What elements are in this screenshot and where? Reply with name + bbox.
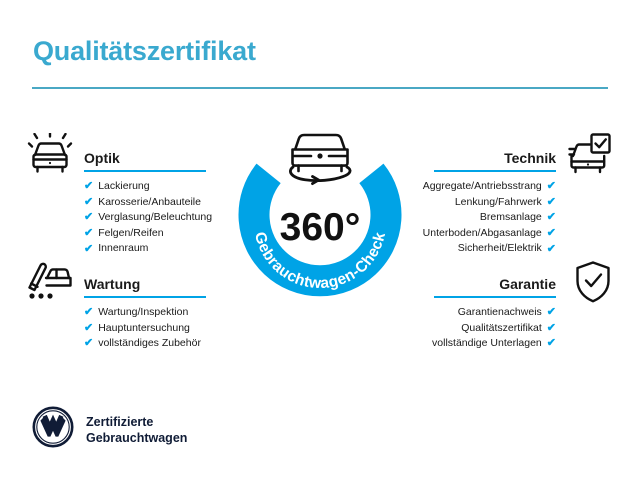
list-item: ✔ Innenraum — [84, 241, 206, 257]
list-item-label: vollständige Unterlagen — [432, 336, 542, 352]
list-item-label: Garantienachweis — [458, 305, 542, 321]
check-icon: ✔ — [84, 212, 93, 223]
section-title-technik: Technik — [504, 150, 556, 166]
section-optik: Optik ✔ Lackierung ✔ Karosserie/Anbautei… — [84, 142, 206, 257]
section-title-optik: Optik — [84, 150, 120, 166]
list-item: ✔ Hauptuntersuchung — [84, 321, 206, 337]
certificate-page: Qualitätszertifikat — [0, 0, 640, 480]
list-item-label: Bremsanlage — [480, 210, 542, 226]
list-item-label: Lenkung/Fahrwerk — [455, 195, 542, 211]
list-item: ✔ Wartung/Inspektion — [84, 305, 206, 321]
check-icon: ✔ — [547, 197, 556, 208]
section-title-garantie: Garantie — [499, 276, 556, 292]
section-garantie: Garantie Garantienachweis ✔ Qualitätszer… — [434, 268, 556, 352]
check-icon: ✔ — [547, 244, 556, 255]
footer-line-2: Gebrauchtwagen — [86, 430, 187, 446]
service-record-icon — [25, 259, 73, 306]
list-item-label: Karosserie/Anbauteile — [98, 195, 201, 211]
list-item-label: Verglasung/Beleuchtung — [98, 210, 212, 226]
section-head-garantie: Garantie — [434, 268, 556, 298]
list-item-label: Hauptuntersuchung — [98, 321, 190, 337]
check-icon: ✔ — [84, 181, 93, 192]
check-icon: ✔ — [84, 244, 93, 255]
car-checkbox-icon — [566, 132, 612, 181]
checklist-technik: Aggregate/Antriebsstrang ✔ Lenkung/Fahrw… — [434, 179, 556, 257]
list-item: ✔ Lackierung — [84, 179, 206, 195]
section-wartung: Wartung ✔ Wartung/Inspektion ✔ Hauptunte… — [84, 268, 206, 352]
check-icon: ✔ — [84, 338, 93, 349]
section-divider-technik — [434, 170, 556, 172]
check-icon: ✔ — [84, 323, 93, 334]
list-item: Lenkung/Fahrwerk ✔ — [434, 195, 556, 211]
list-item: ✔ Verglasung/Beleuchtung — [84, 210, 206, 226]
section-head-wartung: Wartung — [84, 268, 206, 298]
shield-check-icon — [574, 260, 612, 309]
list-item: Bremsanlage ✔ — [434, 210, 556, 226]
footer-text: Zertifizierte Gebrauchtwagen — [86, 414, 187, 446]
list-item-label: Lackierung — [98, 179, 149, 195]
checklist-wartung: ✔ Wartung/Inspektion ✔ Hauptuntersuchung… — [84, 305, 206, 352]
footer-branding: Zertifizierte Gebrauchtwagen — [32, 406, 187, 453]
list-item: vollständige Unterlagen ✔ — [434, 336, 556, 352]
badge-center-label: 360° — [280, 206, 361, 249]
list-item-label: Innenraum — [98, 241, 148, 257]
section-title-wartung: Wartung — [84, 276, 140, 292]
header-divider — [32, 87, 608, 89]
list-item: ✔ Karosserie/Anbauteile — [84, 195, 206, 211]
check-icon: ✔ — [84, 228, 93, 239]
check-icon: ✔ — [84, 307, 93, 318]
list-item: Unterboden/Abgasanlage ✔ — [434, 226, 556, 242]
check-icon: ✔ — [547, 228, 556, 239]
footer-line-1: Zertifizierte — [86, 414, 187, 430]
page-title: Qualitätszertifikat — [33, 36, 256, 67]
360-check-badge: Gebrauchtwagen-Check 360° — [228, 124, 412, 308]
list-item-label: Felgen/Reifen — [98, 226, 163, 242]
section-divider-garantie — [434, 296, 556, 298]
section-technik: Technik Aggregate/Antriebsstrang ✔ Lenku… — [434, 142, 556, 257]
car-rotate-icon — [290, 135, 350, 184]
list-item-label: Unterboden/Abgasanlage — [423, 226, 542, 242]
list-item: Qualitätszertifikat ✔ — [434, 321, 556, 337]
list-item: Garantienachweis ✔ — [434, 305, 556, 321]
checklist-garantie: Garantienachweis ✔ Qualitätszertifikat ✔… — [434, 305, 556, 352]
section-divider-optik — [84, 170, 206, 172]
list-item-label: Sicherheit/Elektrik — [458, 241, 542, 257]
list-item-label: Wartung/Inspektion — [98, 305, 188, 321]
list-item: Sicherheit/Elektrik ✔ — [434, 241, 556, 257]
list-item: Aggregate/Antriebsstrang ✔ — [434, 179, 556, 195]
check-icon: ✔ — [547, 212, 556, 223]
check-icon: ✔ — [84, 197, 93, 208]
check-icon: ✔ — [547, 323, 556, 334]
section-head-technik: Technik — [434, 142, 556, 172]
checklist-optik: ✔ Lackierung ✔ Karosserie/Anbauteile ✔ V… — [84, 179, 206, 257]
check-icon: ✔ — [547, 338, 556, 349]
list-item: ✔ vollständiges Zubehör — [84, 336, 206, 352]
list-item-label: Qualitätszertifikat — [461, 321, 542, 337]
section-head-optik: Optik — [84, 142, 206, 172]
list-item-label: Aggregate/Antriebsstrang — [423, 179, 542, 195]
check-icon: ✔ — [547, 307, 556, 318]
section-divider-wartung — [84, 296, 206, 298]
list-item: ✔ Felgen/Reifen — [84, 226, 206, 242]
check-icon: ✔ — [547, 181, 556, 192]
vw-logo — [32, 406, 74, 453]
car-shine-icon — [27, 133, 73, 180]
list-item-label: vollständiges Zubehör — [98, 336, 201, 352]
